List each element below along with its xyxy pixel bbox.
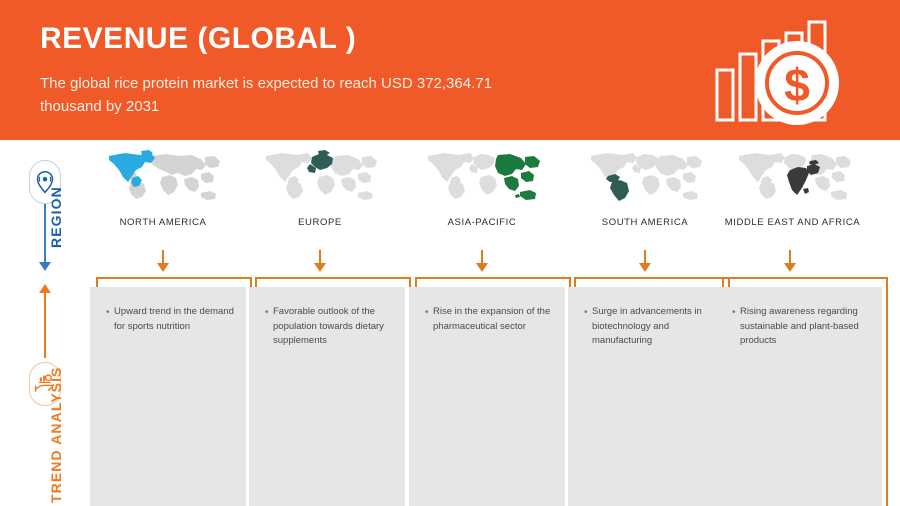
connector-arrow-icon-3	[476, 263, 488, 272]
trend-text: • Surge in advancements in biotechnology…	[584, 305, 714, 349]
trend-card-asia-pacific[interactable]: • Rise in the expansion of the pharmaceu…	[409, 277, 571, 506]
connector-arrow-icon-1	[157, 263, 169, 272]
region-label: MIDDLE EAST AND AFRICA	[715, 217, 870, 228]
bar-chart-dollar-icon: $	[700, 8, 860, 133]
page-title: REVENUE (GLOBAL )	[40, 22, 356, 55]
world-map-asia-pacific-highlighted	[422, 147, 542, 209]
trend-label: Rise in the expansion of the pharmaceuti…	[433, 305, 555, 334]
trend-label: Upward trend in the demand for sports nu…	[114, 305, 236, 334]
trend-text: • Upward trend in the demand for sports …	[106, 305, 236, 334]
region-label: NORTH AMERICA	[103, 217, 223, 228]
trend-text: • Favorable outlook of the population to…	[265, 305, 395, 349]
connector-arrow-icon-4	[639, 263, 651, 272]
bullet-icon: •	[584, 305, 592, 321]
trend-label: Rising awareness regarding sustainable a…	[740, 305, 872, 349]
region-rail-line	[44, 204, 46, 264]
trend-label: Favorable outlook of the population towa…	[273, 305, 395, 349]
region-column-europe[interactable]: EUROPE	[260, 147, 380, 228]
trend-arrow-up-icon	[39, 284, 51, 293]
region-rail-label: REGION	[48, 186, 64, 248]
region-label: SOUTH AMERICA	[583, 217, 707, 228]
trend-card-north-america[interactable]: • Upward trend in the demand for sports …	[90, 277, 252, 506]
header-banner: REVENUE (GLOBAL ) The global rice protei…	[0, 0, 900, 140]
region-label: ASIA-PACIFIC	[422, 217, 542, 228]
header-subtitle: The global rice protein market is expect…	[40, 72, 540, 119]
region-column-middle-east-africa[interactable]: MIDDLE EAST AND AFRICA	[715, 147, 870, 228]
bullet-icon: •	[732, 305, 740, 321]
bullet-icon: •	[425, 305, 433, 321]
trend-text: • Rising awareness regarding sustainable…	[732, 305, 872, 349]
world-map-europe-highlighted	[260, 147, 380, 209]
world-map-south-america-highlighted	[585, 147, 705, 209]
infographic-canvas: REVENUE (GLOBAL ) The global rice protei…	[0, 0, 900, 506]
region-column-north-america[interactable]: NORTH AMERICA	[103, 147, 223, 228]
bullet-icon: •	[265, 305, 273, 321]
connector-arrow-icon-2	[314, 263, 326, 272]
region-label: EUROPE	[260, 217, 380, 228]
world-map-middle-east-africa-highlighted	[730, 147, 856, 209]
trend-card-south-america[interactable]: • Surge in advancements in biotechnology…	[568, 277, 730, 506]
world-map-north-america-highlighted	[103, 147, 223, 209]
trend-label: Surge in advancements in biotechnology a…	[592, 305, 714, 349]
bullet-icon: •	[106, 305, 114, 321]
trend-rail-line	[44, 292, 46, 358]
svg-text:$: $	[784, 59, 810, 111]
trend-text: • Rise in the expansion of the pharmaceu…	[425, 305, 555, 334]
region-column-asia-pacific[interactable]: ASIA-PACIFIC	[422, 147, 542, 228]
connector-arrow-icon-5	[784, 263, 796, 272]
trend-card-europe[interactable]: • Favorable outlook of the population to…	[249, 277, 411, 506]
region-column-south-america[interactable]: SOUTH AMERICA	[583, 147, 707, 228]
trend-rail-label: TREND ANALYSIS	[48, 367, 64, 504]
region-arrow-down-icon	[39, 262, 51, 271]
trend-card-middle-east-africa[interactable]: • Rising awareness regarding sustainable…	[716, 277, 888, 506]
